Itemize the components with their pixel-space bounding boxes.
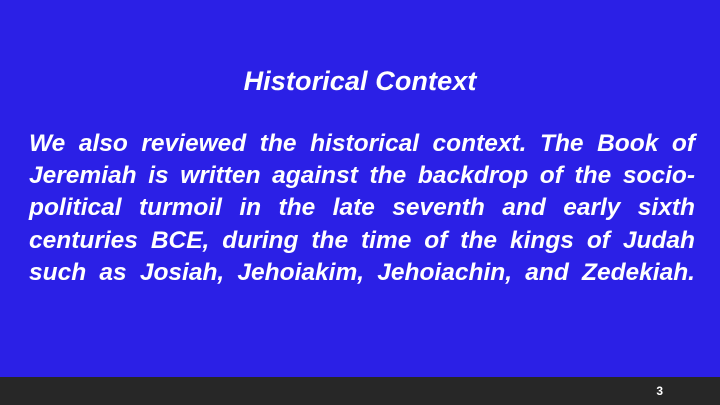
slide-body-paragraph: We also reviewed the historical context.…: [29, 128, 695, 321]
slide-footer-bar: 3: [0, 377, 720, 405]
page-number: 3: [0, 377, 720, 405]
slide-body-text: We also reviewed the historical context.…: [29, 128, 695, 321]
presentation-slide: Historical Context We also reviewed the …: [0, 0, 720, 405]
slide-title: Historical Context: [0, 64, 720, 98]
